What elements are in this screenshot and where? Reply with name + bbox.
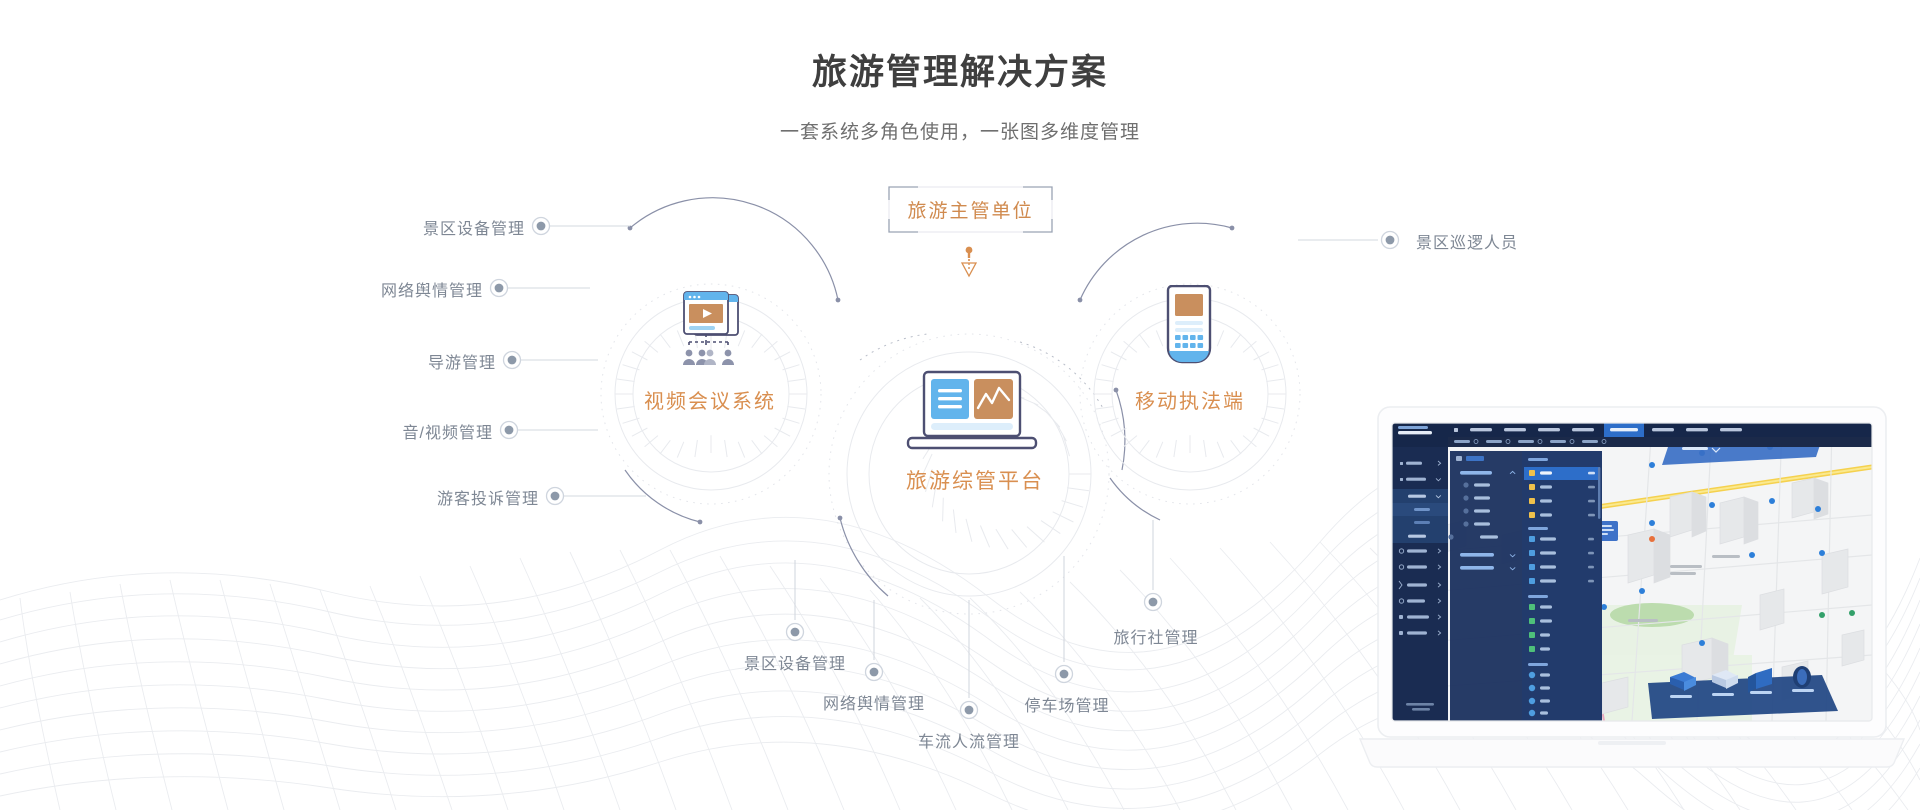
page-title: 旅游管理解决方案: [0, 44, 1920, 95]
arc-endpoint-dot: [1078, 298, 1083, 303]
leader-dot: [1149, 598, 1158, 607]
leader-dot: [537, 222, 546, 231]
tourism-dashboard-laptop-mockup: [1352, 405, 1912, 810]
node-label-mobile-enforcement: 移动执法端: [1080, 385, 1300, 414]
authority-connector: [962, 247, 976, 276]
video-window-icon: [680, 290, 742, 372]
left-label-2: 网络舆情管理: [258, 277, 483, 301]
right-leader-group: [1298, 232, 1399, 249]
left-leader-group: [491, 218, 647, 505]
authority-box[interactable]: 旅游主管单位: [888, 186, 1053, 233]
leader-dot: [1386, 236, 1395, 245]
node-label-video-conference: 视频会议系统: [600, 385, 820, 414]
left-label-3: 导游管理: [271, 349, 496, 373]
bottom-label-1: 景区设备管理: [728, 650, 862, 674]
leader-dot: [1060, 670, 1069, 679]
connector-start-dot: [966, 247, 973, 254]
page-subtitle: 一套系统多角色使用，一张图多维度管理: [0, 117, 1920, 144]
ring-arc-dotted-nw: [860, 334, 928, 360]
mobile-device-icon: [1158, 285, 1220, 373]
arc-endpoint-dot: [1230, 226, 1235, 231]
bottom-label-2: 网络舆情管理: [807, 690, 941, 714]
arc-endpoint-dot: [836, 298, 841, 303]
leader-dot: [551, 492, 560, 501]
node-label-tourism-platform: 旅游综管平台: [860, 465, 1090, 495]
laptop-dashboard-icon: [906, 370, 1038, 458]
leader-dot: [505, 426, 514, 435]
bottom-leader-group: [787, 520, 1162, 719]
ring-arc-top: [630, 198, 838, 300]
left-label-4: 音/视频管理: [268, 419, 493, 443]
arc-endpoint-dot: [838, 516, 843, 521]
bottom-label-4: 停车场管理: [1000, 692, 1134, 716]
leader-dot: [508, 356, 517, 365]
bottom-label-3: 车流人流管理: [902, 728, 1036, 752]
page-header: 旅游管理解决方案 一套系统多角色使用，一张图多维度管理: [0, 0, 1920, 144]
arc-endpoint-dot: [698, 520, 703, 525]
solution-diagram-page: 旅游管理解决方案 一套系统多角色使用，一张图多维度管理: [0, 0, 1920, 810]
leader-dot: [791, 628, 800, 637]
ring-arc-bottom-left: [840, 518, 888, 596]
leader-dot: [495, 284, 504, 293]
bottom-label-5: 旅行社管理: [1089, 624, 1223, 648]
ring-arc-bottom: [1110, 478, 1160, 520]
authority-box-label: 旅游主管单位: [888, 186, 1053, 233]
left-label-5: 游客投诉管理: [314, 485, 539, 509]
right-label-1: 景区巡逻人员: [1416, 229, 1518, 253]
leader-dot: [870, 668, 879, 677]
left-label-1: 景区设备管理: [300, 215, 525, 239]
leader-dot: [965, 706, 974, 715]
